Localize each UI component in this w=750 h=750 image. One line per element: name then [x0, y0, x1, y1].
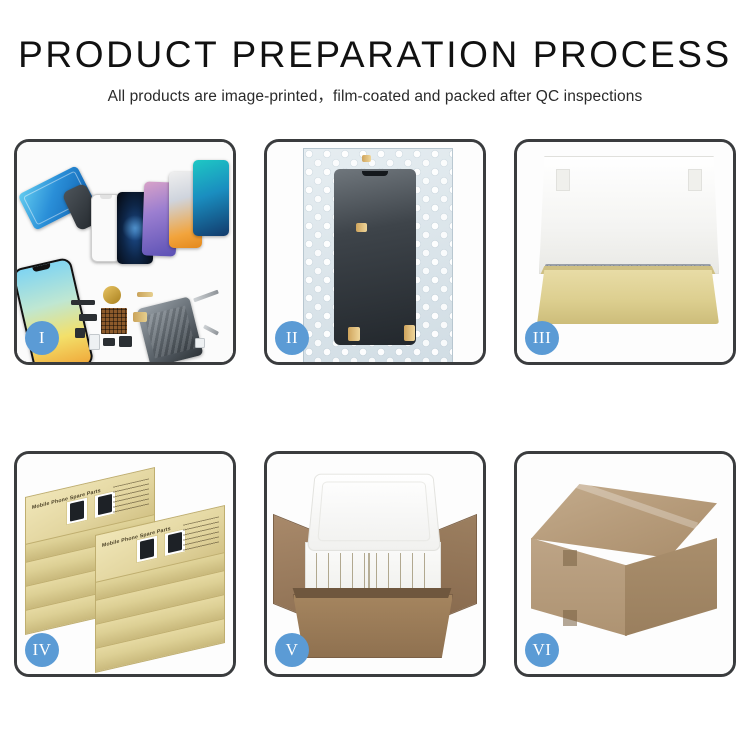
lid-tab-left — [556, 169, 570, 191]
page-title: PRODUCT PREPARATION PROCESS — [0, 36, 750, 75]
step-badge-4: IV — [25, 633, 59, 667]
step-badge-2: II — [275, 321, 309, 355]
step-image-1: I — [17, 142, 233, 362]
step-badge-5: V — [275, 633, 309, 667]
box-spec-text-top — [113, 478, 149, 514]
step-panel-6[interactable]: VI — [514, 451, 736, 677]
foam-box-lid — [307, 474, 441, 551]
logic-board — [101, 308, 127, 334]
carton-rim — [291, 588, 453, 598]
box-window-left-front — [136, 534, 158, 563]
carton-front-panel — [293, 594, 453, 658]
flex-cable-1 — [137, 292, 153, 297]
step-panel-3[interactable]: III — [514, 139, 736, 365]
earpiece-strip — [71, 300, 95, 305]
bubble-wrap-bag — [303, 148, 453, 362]
flex-tab-middle — [356, 223, 367, 232]
step-image-2: II — [267, 142, 483, 362]
step-panel-2[interactable]: II — [264, 139, 486, 365]
process-step-grid: I II III — [14, 139, 736, 677]
box-spec-text-front — [183, 516, 219, 552]
carton-tape-mark-lower — [563, 610, 577, 626]
step-image-6: VI — [517, 454, 733, 674]
box-window-left-top — [66, 496, 88, 525]
lid-tab-right — [688, 169, 702, 191]
step-image-5: V — [267, 454, 483, 674]
speaker-module-icon — [103, 286, 121, 304]
vibrator-motor — [75, 328, 85, 338]
wrapped-lcd-screen — [334, 169, 416, 345]
step-panel-5[interactable]: V — [264, 451, 486, 677]
carton-tape-mark-upper — [563, 550, 577, 566]
step-panel-1[interactable]: I — [14, 139, 236, 365]
open-box-lid — [539, 156, 719, 274]
step-image-3: III — [517, 142, 733, 362]
camera-module — [79, 314, 97, 321]
flex-tab-bottom-left — [348, 327, 360, 341]
page-header: PRODUCT PREPARATION PROCESS All products… — [0, 0, 750, 106]
step-badge-3: III — [525, 321, 559, 355]
flex-tab-top — [362, 155, 371, 162]
sim-tray — [89, 334, 100, 350]
carton-left-face — [531, 538, 627, 636]
flex-tab-bottom-right — [404, 325, 415, 341]
small-screw-part — [195, 338, 205, 348]
phone-teal-display — [193, 160, 229, 236]
charging-port — [119, 336, 132, 347]
step-panel-4[interactable]: Mobile Phone Spare Parts Mobile Phone Sp… — [14, 451, 236, 677]
step-badge-6: VI — [525, 633, 559, 667]
step-badge-1: I — [25, 321, 59, 355]
flex-cable-2 — [133, 312, 147, 322]
step-image-4: Mobile Phone Spare Parts Mobile Phone Sp… — [17, 454, 233, 674]
button-flex — [103, 338, 115, 346]
page-subtitle: All products are image-printed，film-coat… — [0, 84, 750, 106]
yellow-box-base — [537, 270, 719, 324]
